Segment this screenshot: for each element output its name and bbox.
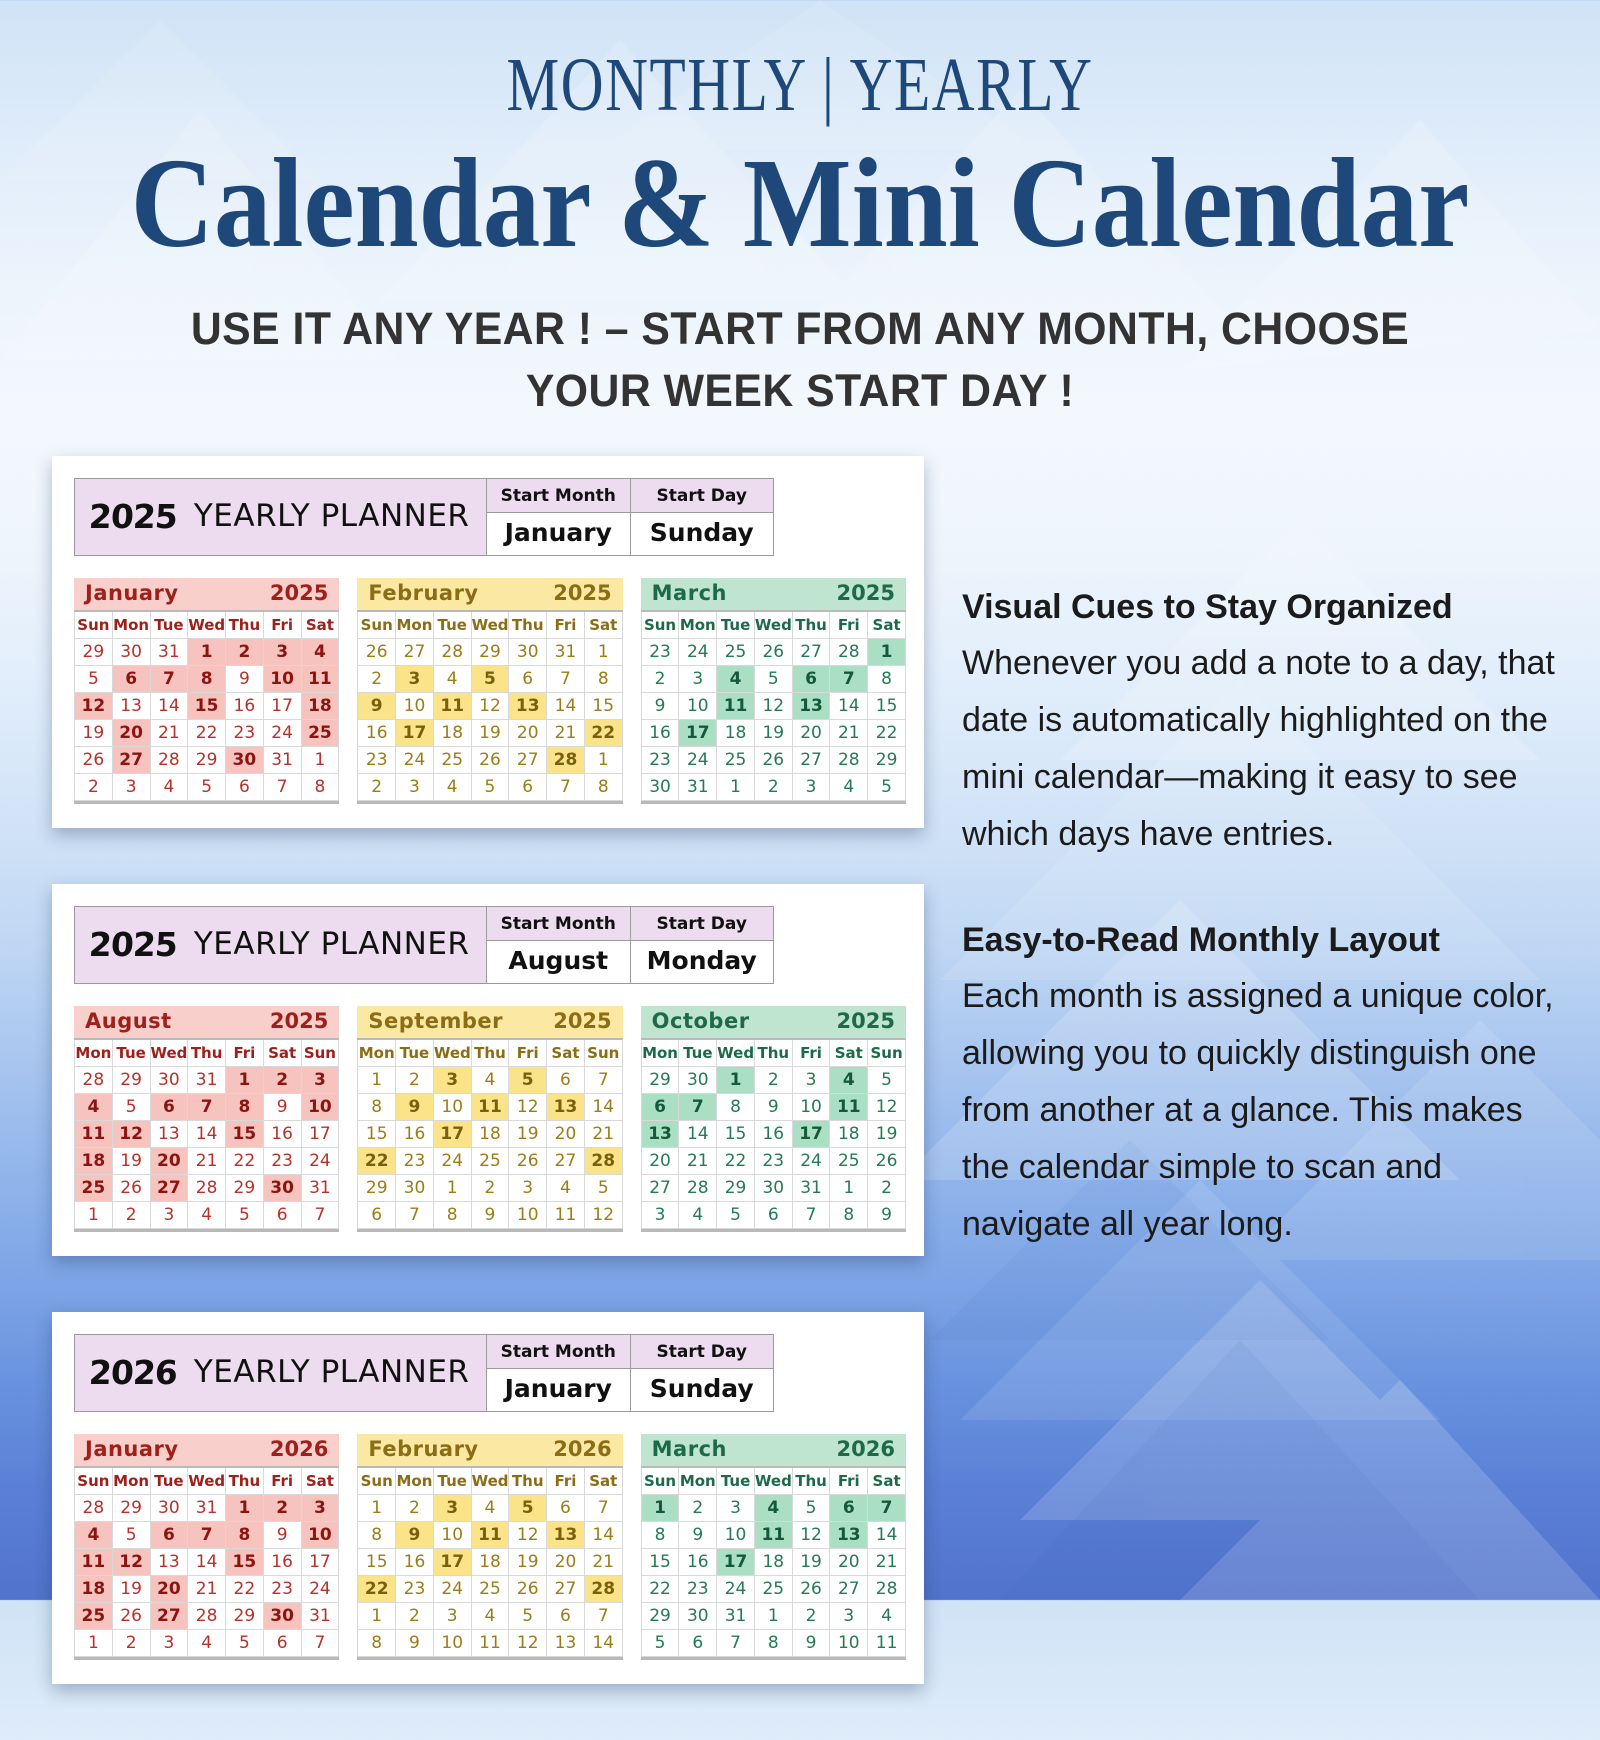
day-cell[interactable]: 23 (396, 1148, 434, 1175)
day-cell-outside-month[interactable]: 28 (830, 639, 868, 666)
day-cell-highlighted[interactable]: 2 (263, 1495, 301, 1522)
day-cell-outside-month[interactable]: 4 (188, 1630, 226, 1657)
day-cell-outside-month[interactable]: 5 (509, 1603, 547, 1630)
day-cell[interactable]: 8 (717, 1094, 755, 1121)
day-cell[interactable]: 10 (679, 693, 717, 720)
day-cell[interactable]: 27 (830, 1576, 868, 1603)
day-cell-highlighted[interactable]: 2 (263, 1067, 301, 1094)
day-cell[interactable]: 14 (188, 1549, 226, 1576)
day-cell[interactable]: 24 (433, 1576, 471, 1603)
day-cell-outside-month[interactable]: 6 (547, 1603, 585, 1630)
day-cell-outside-month[interactable]: 2 (754, 774, 792, 801)
day-cell-outside-month[interactable]: 3 (830, 1603, 868, 1630)
day-cell-outside-month[interactable]: 9 (471, 1202, 509, 1229)
day-cell-outside-month[interactable]: 11 (471, 1630, 509, 1657)
day-cell[interactable]: 6 (547, 1495, 585, 1522)
day-cell-highlighted[interactable]: 8 (226, 1094, 264, 1121)
day-cell[interactable]: 5 (112, 1522, 150, 1549)
day-cell-outside-month[interactable]: 1 (75, 1630, 113, 1657)
day-cell-highlighted[interactable]: 10 (263, 666, 301, 693)
day-cell-outside-month[interactable]: 8 (830, 1202, 868, 1229)
day-cell-highlighted[interactable]: 17 (679, 720, 717, 747)
day-cell[interactable]: 21 (830, 720, 868, 747)
day-cell-outside-month[interactable]: 2 (868, 1175, 906, 1202)
day-cell-outside-month[interactable]: 6 (263, 1630, 301, 1657)
day-cell[interactable]: 16 (679, 1549, 717, 1576)
day-cell-highlighted[interactable]: 17 (433, 1549, 471, 1576)
day-cell[interactable]: 10 (792, 1094, 830, 1121)
day-cell[interactable]: 22 (226, 1576, 264, 1603)
day-cell-highlighted[interactable]: 11 (471, 1522, 509, 1549)
day-cell-highlighted[interactable]: 3 (263, 639, 301, 666)
day-cell[interactable]: 25 (717, 747, 755, 774)
day-cell[interactable]: 9 (226, 666, 264, 693)
day-cell[interactable]: 26 (754, 747, 792, 774)
day-cell-outside-month[interactable]: 5 (471, 774, 509, 801)
day-cell-outside-month[interactable]: 7 (263, 774, 301, 801)
day-cell-outside-month[interactable]: 29 (112, 1495, 150, 1522)
day-cell[interactable]: 26 (792, 1576, 830, 1603)
day-cell-outside-month[interactable]: 3 (509, 1175, 547, 1202)
day-cell[interactable]: 23 (226, 720, 264, 747)
day-cell-outside-month[interactable]: 28 (433, 639, 471, 666)
day-cell-highlighted[interactable]: 7 (188, 1094, 226, 1121)
day-cell-outside-month[interactable]: 29 (471, 639, 509, 666)
day-cell-highlighted[interactable]: 17 (433, 1121, 471, 1148)
day-cell-highlighted[interactable]: 27 (112, 747, 150, 774)
day-cell-highlighted[interactable]: 30 (263, 1603, 301, 1630)
day-cell-highlighted[interactable]: 7 (868, 1495, 906, 1522)
day-cell-outside-month[interactable]: 3 (641, 1202, 679, 1229)
day-cell-highlighted[interactable]: 10 (301, 1094, 339, 1121)
day-cell[interactable]: 25 (471, 1576, 509, 1603)
day-cell[interactable]: 16 (226, 693, 264, 720)
day-cell[interactable]: 20 (641, 1148, 679, 1175)
day-cell[interactable]: 19 (509, 1549, 547, 1576)
day-cell[interactable]: 20 (830, 1549, 868, 1576)
day-cell-highlighted[interactable]: 22 (584, 720, 622, 747)
day-cell-outside-month[interactable]: 1 (358, 1603, 396, 1630)
day-cell[interactable]: 23 (396, 1576, 434, 1603)
day-cell[interactable]: 22 (868, 720, 906, 747)
day-cell[interactable]: 29 (641, 1603, 679, 1630)
day-cell[interactable]: 27 (641, 1175, 679, 1202)
day-cell[interactable]: 24 (263, 720, 301, 747)
day-cell-outside-month[interactable]: 7 (584, 1603, 622, 1630)
day-cell[interactable]: 25 (471, 1148, 509, 1175)
day-cell-highlighted[interactable]: 22 (358, 1148, 396, 1175)
day-cell-highlighted[interactable]: 30 (226, 747, 264, 774)
day-cell-highlighted[interactable]: 25 (75, 1603, 113, 1630)
day-cell[interactable]: 28 (188, 1175, 226, 1202)
day-cell[interactable]: 31 (301, 1175, 339, 1202)
day-cell[interactable]: 2 (641, 666, 679, 693)
day-cell-highlighted[interactable]: 9 (396, 1522, 434, 1549)
day-cell-outside-month[interactable]: 7 (301, 1202, 339, 1229)
day-cell-outside-month[interactable]: 30 (509, 639, 547, 666)
day-cell-outside-month[interactable]: 4 (433, 774, 471, 801)
day-cell-highlighted[interactable]: 11 (75, 1121, 113, 1148)
day-cell-highlighted[interactable]: 18 (75, 1148, 113, 1175)
day-cell-outside-month[interactable]: 30 (679, 1067, 717, 1094)
day-cell-highlighted[interactable]: 3 (301, 1495, 339, 1522)
day-cell[interactable]: 15 (358, 1549, 396, 1576)
day-cell[interactable]: 7 (584, 1495, 622, 1522)
day-cell[interactable]: 7 (584, 1067, 622, 1094)
day-cell-highlighted[interactable]: 5 (509, 1067, 547, 1094)
day-cell[interactable]: 28 (188, 1603, 226, 1630)
start-month-field[interactable]: Start MonthJanuary (487, 1335, 631, 1411)
day-cell[interactable]: 2 (754, 1067, 792, 1094)
day-cell-outside-month[interactable]: 4 (150, 774, 188, 801)
day-cell-highlighted[interactable]: 11 (75, 1549, 113, 1576)
day-cell[interactable]: 6 (547, 1067, 585, 1094)
day-cell-outside-month[interactable]: 8 (584, 774, 622, 801)
day-cell[interactable]: 14 (868, 1522, 906, 1549)
day-cell[interactable]: 19 (754, 720, 792, 747)
day-cell[interactable]: 2 (679, 1495, 717, 1522)
day-cell-highlighted[interactable]: 5 (471, 666, 509, 693)
day-cell[interactable]: 2 (396, 1495, 434, 1522)
day-cell-highlighted[interactable]: 27 (150, 1175, 188, 1202)
day-cell[interactable]: 16 (754, 1121, 792, 1148)
day-cell[interactable]: 16 (641, 720, 679, 747)
day-cell-outside-month[interactable]: 30 (112, 639, 150, 666)
day-cell[interactable]: 19 (75, 720, 113, 747)
day-cell-outside-month[interactable]: 3 (433, 1603, 471, 1630)
day-cell[interactable]: 26 (112, 1603, 150, 1630)
day-cell[interactable]: 13 (150, 1549, 188, 1576)
day-cell-highlighted[interactable]: 4 (830, 1067, 868, 1094)
day-cell-outside-month[interactable]: 11 (868, 1630, 906, 1657)
day-cell[interactable]: 19 (868, 1121, 906, 1148)
day-cell-highlighted[interactable]: 12 (112, 1121, 150, 1148)
day-cell-outside-month[interactable]: 9 (792, 1630, 830, 1657)
day-cell[interactable]: 4 (471, 1495, 509, 1522)
day-cell[interactable]: 15 (641, 1549, 679, 1576)
day-cell-highlighted[interactable]: 2 (226, 639, 264, 666)
day-cell-highlighted[interactable]: 4 (717, 666, 755, 693)
day-cell-highlighted[interactable]: 8 (188, 666, 226, 693)
day-cell[interactable]: 9 (263, 1522, 301, 1549)
day-cell-outside-month[interactable]: 31 (547, 639, 585, 666)
day-cell[interactable]: 18 (471, 1549, 509, 1576)
day-cell-highlighted[interactable]: 9 (396, 1094, 434, 1121)
day-cell-highlighted[interactable]: 4 (75, 1094, 113, 1121)
day-cell-outside-month[interactable]: 23 (641, 639, 679, 666)
day-cell[interactable]: 18 (830, 1121, 868, 1148)
day-cell[interactable]: 14 (188, 1121, 226, 1148)
day-cell[interactable]: 10 (433, 1094, 471, 1121)
day-cell-outside-month[interactable]: 2 (75, 774, 113, 801)
day-cell-highlighted[interactable]: 28 (547, 747, 585, 774)
day-cell[interactable]: 12 (754, 693, 792, 720)
day-cell[interactable]: 18 (471, 1121, 509, 1148)
start-month-value[interactable]: August (487, 941, 630, 983)
day-cell-outside-month[interactable]: 10 (509, 1202, 547, 1229)
day-cell[interactable]: 25 (433, 747, 471, 774)
start-day-field[interactable]: Start DayMonday (631, 907, 774, 983)
day-cell[interactable]: 5 (75, 666, 113, 693)
day-cell[interactable]: 9 (754, 1094, 792, 1121)
day-cell[interactable]: 16 (396, 1121, 434, 1148)
day-cell-outside-month[interactable]: 5 (868, 774, 906, 801)
day-cell[interactable]: 23 (679, 1576, 717, 1603)
day-cell-outside-month[interactable]: 9 (396, 1630, 434, 1657)
day-cell[interactable]: 21 (547, 720, 585, 747)
day-cell[interactable]: 31 (679, 774, 717, 801)
day-cell-outside-month[interactable]: 2 (112, 1630, 150, 1657)
day-cell-highlighted[interactable]: 1 (717, 1067, 755, 1094)
day-cell[interactable]: 14 (830, 693, 868, 720)
day-cell[interactable]: 5 (792, 1495, 830, 1522)
day-cell[interactable]: 14 (150, 693, 188, 720)
day-cell-highlighted[interactable]: 20 (112, 720, 150, 747)
start-day-value[interactable]: Sunday (631, 513, 774, 555)
day-cell[interactable]: 24 (301, 1148, 339, 1175)
day-cell-outside-month[interactable]: 3 (150, 1202, 188, 1229)
day-cell[interactable]: 24 (717, 1576, 755, 1603)
day-cell-highlighted[interactable]: 12 (112, 1549, 150, 1576)
day-cell[interactable]: 29 (226, 1603, 264, 1630)
day-cell-outside-month[interactable]: 2 (792, 1603, 830, 1630)
day-cell[interactable]: 26 (75, 747, 113, 774)
day-cell-highlighted[interactable]: 25 (301, 720, 339, 747)
day-cell-outside-month[interactable]: 5 (226, 1630, 264, 1657)
day-cell-highlighted[interactable]: 11 (433, 693, 471, 720)
day-cell-highlighted[interactable]: 3 (396, 666, 434, 693)
start-day-value[interactable]: Sunday (631, 1369, 774, 1411)
day-cell-outside-month[interactable]: 26 (754, 639, 792, 666)
day-cell[interactable]: 25 (754, 1576, 792, 1603)
day-cell[interactable]: 20 (509, 720, 547, 747)
day-cell[interactable]: 26 (868, 1148, 906, 1175)
start-day-field[interactable]: Start DaySunday (631, 1335, 774, 1411)
day-cell-outside-month[interactable]: 26 (358, 639, 396, 666)
day-cell[interactable]: 13 (112, 693, 150, 720)
day-cell[interactable]: 17 (263, 693, 301, 720)
day-cell-outside-month[interactable]: 29 (112, 1067, 150, 1094)
day-cell[interactable]: 17 (301, 1121, 339, 1148)
day-cell[interactable]: 5 (868, 1067, 906, 1094)
day-cell[interactable]: 21 (188, 1576, 226, 1603)
day-cell-outside-month[interactable]: 5 (641, 1630, 679, 1657)
day-cell-outside-month[interactable]: 7 (717, 1630, 755, 1657)
day-cell[interactable]: 28 (830, 747, 868, 774)
day-cell[interactable]: 10 (717, 1522, 755, 1549)
day-cell[interactable]: 14 (679, 1121, 717, 1148)
day-cell-outside-month[interactable]: 2 (471, 1175, 509, 1202)
day-cell-outside-month[interactable]: 8 (301, 774, 339, 801)
day-cell-highlighted[interactable]: 3 (301, 1067, 339, 1094)
day-cell[interactable]: 31 (792, 1175, 830, 1202)
day-cell-highlighted[interactable]: 20 (150, 1576, 188, 1603)
day-cell[interactable]: 22 (226, 1148, 264, 1175)
day-cell-outside-month[interactable]: 3 (792, 774, 830, 801)
day-cell[interactable]: 19 (112, 1148, 150, 1175)
day-cell-highlighted[interactable]: 7 (188, 1522, 226, 1549)
day-cell-highlighted[interactable]: 4 (301, 639, 339, 666)
day-cell-highlighted[interactable]: 27 (150, 1603, 188, 1630)
day-cell-outside-month[interactable]: 3 (396, 774, 434, 801)
day-cell-highlighted[interactable]: 3 (433, 1067, 471, 1094)
day-cell[interactable]: 15 (717, 1121, 755, 1148)
day-cell-highlighted[interactable]: 22 (358, 1576, 396, 1603)
day-cell[interactable]: 8 (641, 1522, 679, 1549)
day-cell-highlighted[interactable]: 13 (641, 1121, 679, 1148)
day-cell[interactable]: 24 (679, 747, 717, 774)
day-cell[interactable]: 29 (717, 1175, 755, 1202)
day-cell[interactable]: 26 (509, 1148, 547, 1175)
day-cell[interactable]: 20 (547, 1549, 585, 1576)
day-cell[interactable]: 26 (112, 1175, 150, 1202)
day-cell[interactable]: 28 (868, 1576, 906, 1603)
day-cell[interactable]: 21 (584, 1549, 622, 1576)
day-cell-highlighted[interactable]: 13 (792, 693, 830, 720)
day-cell-outside-month[interactable]: 8 (433, 1202, 471, 1229)
day-cell-highlighted[interactable]: 11 (754, 1522, 792, 1549)
day-cell-outside-month[interactable]: 8 (358, 1630, 396, 1657)
start-month-value[interactable]: January (487, 513, 630, 555)
day-cell[interactable]: 16 (358, 720, 396, 747)
day-cell-highlighted[interactable]: 15 (226, 1549, 264, 1576)
day-cell[interactable]: 29 (226, 1175, 264, 1202)
start-day-field[interactable]: Start DaySunday (631, 479, 774, 555)
day-cell-outside-month[interactable]: 25 (717, 639, 755, 666)
day-cell[interactable]: 23 (263, 1576, 301, 1603)
day-cell[interactable]: 12 (471, 693, 509, 720)
day-cell[interactable]: 2 (396, 1067, 434, 1094)
day-cell[interactable]: 24 (301, 1576, 339, 1603)
day-cell-outside-month[interactable]: 27 (396, 639, 434, 666)
day-cell[interactable]: 5 (112, 1094, 150, 1121)
day-cell-highlighted[interactable]: 13 (547, 1522, 585, 1549)
day-cell[interactable]: 10 (433, 1522, 471, 1549)
day-cell[interactable]: 3 (717, 1495, 755, 1522)
day-cell-outside-month[interactable]: 1 (830, 1175, 868, 1202)
day-cell-outside-month[interactable]: 27 (792, 639, 830, 666)
day-cell-highlighted[interactable]: 6 (792, 666, 830, 693)
day-cell-outside-month[interactable]: 5 (584, 1175, 622, 1202)
day-cell[interactable]: 1 (358, 1067, 396, 1094)
day-cell-highlighted[interactable]: 7 (679, 1094, 717, 1121)
day-cell-highlighted[interactable]: 11 (301, 666, 339, 693)
day-cell-outside-month[interactable]: 4 (471, 1603, 509, 1630)
day-cell[interactable]: 29 (188, 747, 226, 774)
day-cell-highlighted[interactable]: 28 (584, 1148, 622, 1175)
day-cell-highlighted[interactable]: 17 (792, 1121, 830, 1148)
day-cell-outside-month[interactable]: 4 (188, 1202, 226, 1229)
day-cell-outside-month[interactable]: 5 (226, 1202, 264, 1229)
day-cell-outside-month[interactable]: 10 (830, 1630, 868, 1657)
day-cell[interactable]: 29 (358, 1175, 396, 1202)
day-cell-outside-month[interactable]: 1 (717, 774, 755, 801)
start-month-field[interactable]: Start MonthJanuary (487, 479, 631, 555)
day-cell-outside-month[interactable]: 6 (358, 1202, 396, 1229)
day-cell-outside-month[interactable]: 5 (717, 1202, 755, 1229)
day-cell[interactable]: 16 (263, 1549, 301, 1576)
day-cell[interactable]: 22 (717, 1148, 755, 1175)
day-cell-highlighted[interactable]: 15 (226, 1121, 264, 1148)
day-cell-highlighted[interactable]: 13 (509, 693, 547, 720)
day-cell[interactable]: 27 (792, 747, 830, 774)
day-cell[interactable]: 4 (433, 666, 471, 693)
day-cell-highlighted[interactable]: 6 (830, 1495, 868, 1522)
day-cell[interactable]: 3 (679, 666, 717, 693)
day-cell-highlighted[interactable]: 25 (75, 1175, 113, 1202)
day-cell[interactable]: 27 (547, 1576, 585, 1603)
day-cell[interactable]: 8 (584, 666, 622, 693)
start-month-field[interactable]: Start MonthAugust (487, 907, 631, 983)
day-cell[interactable]: 28 (150, 747, 188, 774)
day-cell[interactable]: 8 (358, 1094, 396, 1121)
day-cell-highlighted[interactable]: 11 (830, 1094, 868, 1121)
day-cell[interactable]: 7 (547, 666, 585, 693)
day-cell[interactable]: 16 (263, 1121, 301, 1148)
day-cell[interactable]: 24 (396, 747, 434, 774)
day-cell-highlighted[interactable]: 4 (75, 1522, 113, 1549)
day-cell[interactable]: 3 (792, 1067, 830, 1094)
day-cell-highlighted[interactable]: 4 (754, 1495, 792, 1522)
day-cell-outside-month[interactable]: 3 (112, 774, 150, 801)
day-cell-outside-month[interactable]: 4 (830, 774, 868, 801)
day-cell-highlighted[interactable]: 10 (301, 1522, 339, 1549)
day-cell[interactable]: 9 (641, 693, 679, 720)
day-cell-outside-month[interactable]: 7 (396, 1202, 434, 1229)
day-cell-outside-month[interactable]: 1 (75, 1202, 113, 1229)
day-cell-outside-month[interactable]: 5 (188, 774, 226, 801)
day-cell-outside-month[interactable]: 8 (754, 1630, 792, 1657)
day-cell[interactable]: 21 (868, 1549, 906, 1576)
day-cell-highlighted[interactable]: 3 (433, 1495, 471, 1522)
day-cell[interactable]: 15 (358, 1121, 396, 1148)
day-cell-outside-month[interactable]: 1 (584, 747, 622, 774)
start-day-value[interactable]: Monday (631, 941, 774, 983)
day-cell[interactable]: 23 (358, 747, 396, 774)
day-cell[interactable]: 31 (717, 1603, 755, 1630)
day-cell[interactable]: 21 (679, 1148, 717, 1175)
day-cell-highlighted[interactable]: 8 (226, 1522, 264, 1549)
day-cell-outside-month[interactable]: 4 (547, 1175, 585, 1202)
day-cell-outside-month[interactable]: 9 (868, 1202, 906, 1229)
day-cell[interactable]: 25 (830, 1148, 868, 1175)
day-cell[interactable]: 31 (301, 1603, 339, 1630)
day-cell[interactable]: 22 (188, 720, 226, 747)
day-cell[interactable]: 18 (754, 1549, 792, 1576)
day-cell[interactable]: 24 (433, 1148, 471, 1175)
day-cell-highlighted[interactable]: 13 (547, 1094, 585, 1121)
day-cell-highlighted[interactable]: 1 (641, 1495, 679, 1522)
day-cell-highlighted[interactable]: 17 (396, 720, 434, 747)
day-cell-highlighted[interactable]: 13 (830, 1522, 868, 1549)
day-cell-outside-month[interactable]: 6 (226, 774, 264, 801)
day-cell[interactable]: 23 (263, 1148, 301, 1175)
day-cell[interactable]: 22 (641, 1576, 679, 1603)
day-cell[interactable]: 8 (358, 1522, 396, 1549)
day-cell-outside-month[interactable]: 28 (75, 1495, 113, 1522)
day-cell[interactable]: 18 (433, 720, 471, 747)
day-cell[interactable]: 16 (396, 1549, 434, 1576)
day-cell[interactable]: 30 (641, 774, 679, 801)
day-cell-outside-month[interactable]: 4 (868, 1603, 906, 1630)
day-cell-highlighted[interactable]: 11 (717, 693, 755, 720)
day-cell-outside-month[interactable]: 31 (188, 1495, 226, 1522)
day-cell[interactable]: 9 (263, 1094, 301, 1121)
start-month-value[interactable]: January (487, 1369, 630, 1411)
day-cell-highlighted[interactable]: 6 (150, 1522, 188, 1549)
day-cell[interactable]: 8 (868, 666, 906, 693)
day-cell[interactable]: 23 (754, 1148, 792, 1175)
